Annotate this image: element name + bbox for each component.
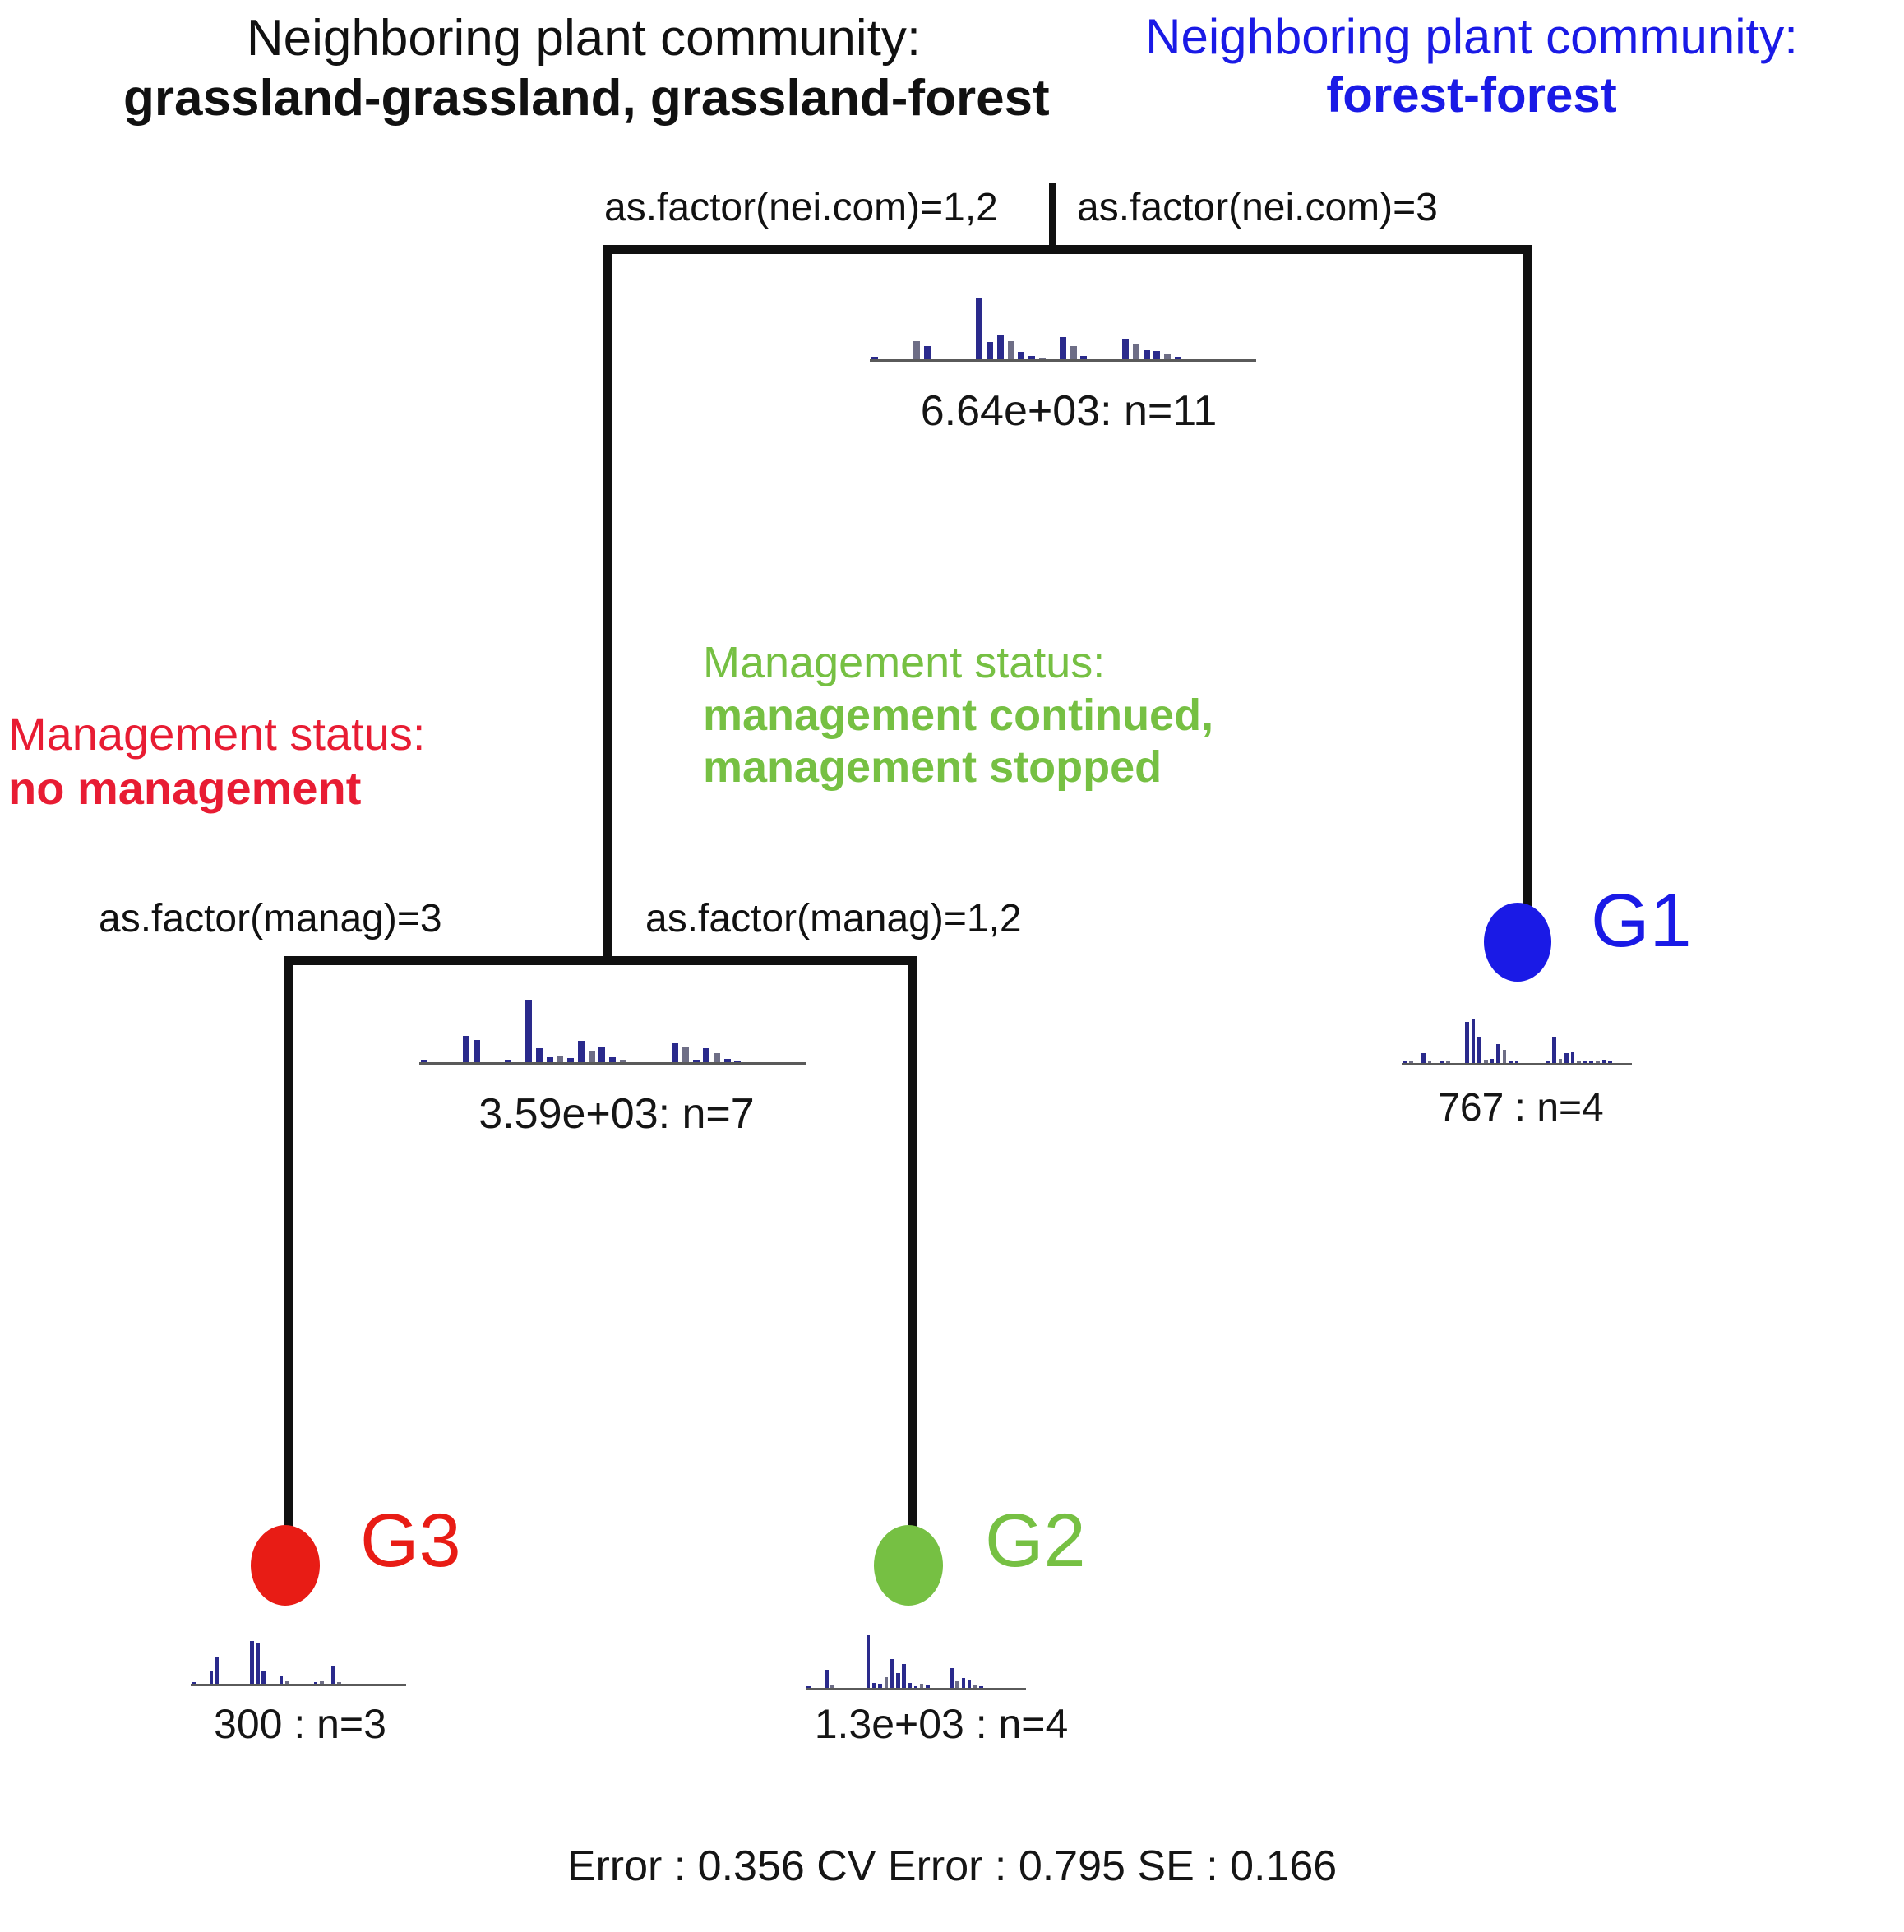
histogram-bar	[250, 1641, 253, 1684]
histogram-bar	[867, 1635, 870, 1688]
histogram-bar	[987, 342, 993, 359]
histogram-bar	[1559, 1059, 1563, 1063]
annotation-left-line1: Neighboring plant community:	[123, 8, 1044, 68]
annotation-neighboring-grassland: Neighboring plant community: grassland-g…	[123, 8, 1044, 128]
histogram-bar	[1421, 1053, 1426, 1063]
histogram-bar	[285, 1681, 289, 1684]
histogram-bar	[1039, 358, 1046, 359]
histogram-bar	[536, 1048, 543, 1062]
histogram-baseline	[191, 1684, 406, 1686]
histogram-bar	[525, 1000, 532, 1062]
histogram-bar	[926, 1685, 929, 1688]
annotation-manag-no-line1: Management status:	[8, 707, 551, 761]
histogram-bar	[1602, 1060, 1606, 1063]
histogram-bar	[256, 1643, 259, 1684]
histogram-bar	[973, 1685, 977, 1688]
histogram-root-node	[870, 298, 1256, 362]
histogram-bar	[871, 357, 878, 359]
histogram-bar	[913, 341, 920, 359]
annotation-left-line2: grassland-grassland, grassland-forest	[123, 68, 1044, 128]
histogram-bar	[890, 1659, 894, 1688]
leaf-dot-g1	[1484, 903, 1551, 982]
histogram-bar	[1122, 339, 1129, 359]
histogram-bar	[1428, 1061, 1432, 1063]
histogram-bar	[1403, 1061, 1407, 1063]
histogram-bar	[1008, 341, 1014, 359]
histogram-bar	[589, 1051, 595, 1062]
node-label-manag: 3.59e+03: n=7	[362, 1089, 871, 1139]
node-label-g1: 767 : n=4	[1365, 1085, 1677, 1130]
histogram-bar	[1477, 1037, 1481, 1063]
histogram-bar	[1440, 1061, 1444, 1063]
leaf-group-label-g1: G1	[1591, 878, 1692, 964]
histogram-bar	[1080, 356, 1087, 359]
histogram-bar	[320, 1681, 323, 1684]
manag-branch-left-vertical	[284, 956, 293, 1541]
manag-connector-horizontal	[284, 956, 917, 965]
histogram-bar	[955, 1681, 959, 1688]
histogram-bar	[1571, 1052, 1575, 1063]
histogram-bar	[1490, 1059, 1494, 1063]
histogram-bar	[192, 1682, 195, 1684]
node-label-g2: 1.3e+03 : n=4	[744, 1700, 1139, 1748]
split-label-manag-right: as.factor(manag)=1,2	[645, 896, 1022, 941]
histogram-bar	[997, 335, 1004, 359]
histogram-bar	[878, 1684, 881, 1688]
histogram-bar	[1583, 1061, 1587, 1063]
histogram-bar	[1465, 1022, 1469, 1063]
histogram-bar	[979, 1686, 982, 1688]
histogram-bar	[1589, 1061, 1593, 1063]
histogram-bar	[1596, 1061, 1600, 1063]
histogram-bar	[950, 1668, 953, 1688]
histogram-bar	[463, 1036, 469, 1062]
histogram-bar	[1577, 1061, 1581, 1063]
annotation-right-line1: Neighboring plant community:	[1052, 8, 1891, 67]
annotation-manag-yes-line3: management stopped	[703, 742, 1328, 794]
histogram-bar	[314, 1682, 317, 1684]
histogram-bar	[210, 1671, 213, 1684]
leaf-dot-g3	[251, 1525, 320, 1606]
leaf-group-label-g3: G3	[360, 1498, 461, 1584]
histogram-bar	[598, 1047, 605, 1062]
histogram-bar	[1509, 1061, 1513, 1063]
annotation-management-none: Management status: no management	[8, 707, 551, 816]
annotation-manag-yes-line2: management continued,	[703, 690, 1328, 742]
histogram-bar	[557, 1056, 564, 1062]
histogram-leaf-g1	[1402, 1018, 1632, 1065]
histogram-bar	[567, 1058, 574, 1062]
split-label-root-left: as.factor(nei.com)=1,2	[604, 185, 998, 230]
histogram-bar	[337, 1682, 340, 1684]
histogram-bar	[421, 1060, 427, 1062]
histogram-bar	[672, 1043, 678, 1062]
histogram-leaf-g3	[191, 1640, 406, 1686]
histogram-bar	[620, 1060, 626, 1062]
histogram-bar	[1153, 351, 1160, 359]
histogram-bar	[1546, 1061, 1550, 1063]
histogram-bar	[1503, 1050, 1507, 1063]
split-label-root-right: as.factor(nei.com)=3	[1077, 185, 1438, 230]
annotation-neighboring-forest: Neighboring plant community: forest-fore…	[1052, 8, 1891, 125]
histogram-baseline	[806, 1688, 1026, 1690]
decision-tree-figure: Neighboring plant community: grassland-g…	[0, 0, 1904, 1932]
histogram-bar	[1060, 337, 1066, 359]
histogram-baseline	[1402, 1063, 1632, 1065]
annotation-right-line2: forest-forest	[1052, 67, 1891, 125]
histogram-bar	[920, 1684, 923, 1688]
histogram-bar	[968, 1680, 971, 1688]
histogram-bar	[1070, 346, 1077, 359]
histogram-bar	[908, 1683, 912, 1688]
histogram-bar	[1484, 1060, 1488, 1063]
histogram-bar	[896, 1673, 899, 1688]
histogram-bar	[1564, 1053, 1569, 1063]
histogram-bar	[1028, 356, 1035, 359]
root-split-tick	[1049, 183, 1056, 250]
histogram-bar	[1472, 1019, 1476, 1063]
histogram-bar	[261, 1671, 265, 1684]
histogram-bar	[914, 1686, 917, 1688]
node-label-g3: 300 : n=3	[144, 1700, 456, 1748]
histogram-bar	[976, 298, 982, 359]
histogram-bar	[1164, 354, 1171, 359]
histogram-bar	[1409, 1061, 1413, 1063]
histogram-bar	[1608, 1061, 1612, 1063]
leaf-dot-g2	[874, 1525, 943, 1606]
histogram-bar	[885, 1677, 888, 1688]
root-connector-horizontal	[603, 245, 1532, 254]
histogram-bar	[331, 1666, 335, 1684]
node-label-root: 6.64e+03: n=11	[822, 386, 1315, 436]
histogram-bar	[693, 1060, 700, 1062]
histogram-bar	[1496, 1044, 1500, 1063]
histogram-manag-node	[419, 999, 806, 1065]
histogram-bar	[714, 1053, 720, 1062]
histogram-leaf-g2	[806, 1634, 1026, 1690]
histogram-bar	[924, 346, 931, 359]
histogram-bar	[682, 1047, 689, 1062]
histogram-bar	[1446, 1061, 1450, 1063]
histogram-bar	[962, 1678, 965, 1688]
histogram-bar	[1133, 344, 1139, 359]
annotation-management-continued: Management status: management continued,…	[703, 637, 1328, 794]
histogram-bar	[1018, 352, 1024, 359]
histogram-bar	[547, 1057, 553, 1062]
histogram-bar	[825, 1670, 828, 1688]
histogram-baseline	[870, 359, 1256, 362]
histogram-bar	[703, 1048, 709, 1062]
footer-error-stats: Error : 0.356 CV Error : 0.795 SE : 0.16…	[0, 1842, 1904, 1891]
histogram-bar	[474, 1040, 480, 1062]
histogram-bar	[734, 1061, 741, 1062]
annotation-manag-yes-line1: Management status:	[703, 637, 1328, 690]
histogram-bar	[505, 1060, 511, 1062]
histogram-bar	[578, 1041, 585, 1062]
histogram-bar	[1552, 1037, 1556, 1063]
histogram-bar	[806, 1686, 810, 1688]
manag-branch-right-vertical	[908, 956, 917, 1541]
histogram-bar	[1515, 1061, 1519, 1063]
histogram-bar	[215, 1657, 219, 1684]
histogram-bar	[1175, 357, 1181, 359]
histogram-baseline	[419, 1062, 806, 1065]
leaf-group-label-g2: G2	[985, 1498, 1086, 1584]
histogram-bar	[1144, 350, 1150, 359]
histogram-bar	[830, 1685, 834, 1688]
histogram-bar	[724, 1059, 731, 1062]
histogram-bar	[280, 1676, 283, 1684]
histogram-bar	[872, 1683, 876, 1688]
split-label-manag-left: as.factor(manag)=3	[99, 896, 442, 941]
histogram-bar	[609, 1057, 616, 1062]
root-branch-right-vertical	[1523, 245, 1532, 954]
histogram-bar	[902, 1664, 905, 1688]
root-branch-left-vertical	[603, 245, 612, 962]
annotation-manag-no-line2: no management	[8, 761, 551, 816]
